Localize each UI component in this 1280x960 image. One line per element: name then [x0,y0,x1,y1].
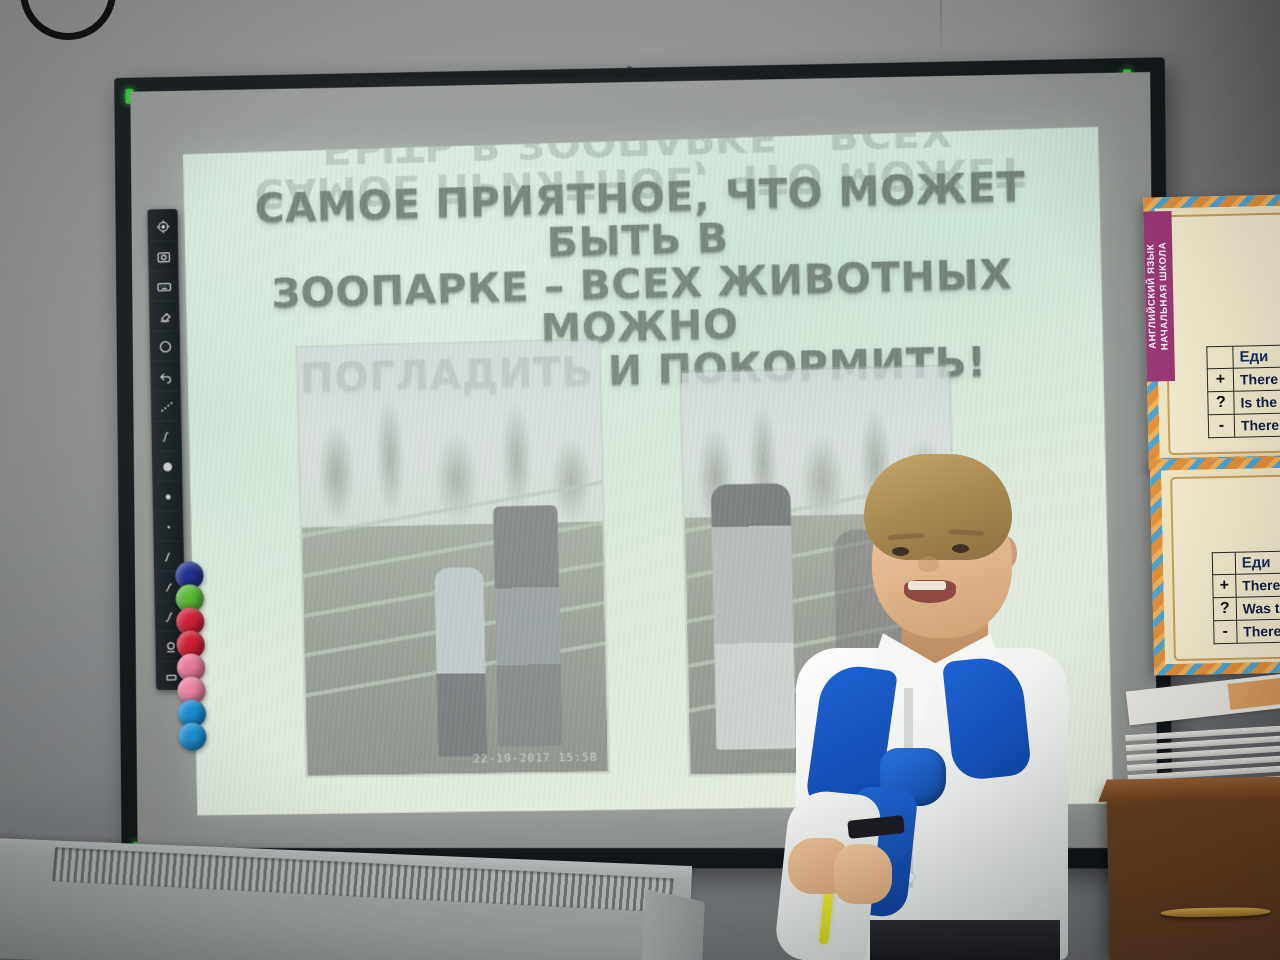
table-row: + There [1213,573,1280,598]
poster-english-grammar-2: Еди + There ? Was th - There [1150,456,1280,675]
row-symbol: - [1214,620,1237,643]
table-header-cell: Еди [1235,551,1280,574]
row-text: There [1233,367,1280,391]
presenter-eye-left [892,547,909,556]
dotted-line-tool[interactable] [153,392,180,422]
row-symbol: ? [1208,391,1234,415]
curve-tool[interactable] [153,422,180,452]
pen-thick-tool[interactable] [154,452,181,482]
photo-figure-child [435,567,487,757]
cabinet-top-surface [1098,776,1280,802]
poster-tab-line-2: НАЧАЛЬНАЯ ШКОЛА [1157,242,1170,351]
pen-thin-tool[interactable] [155,512,182,541]
presenter-teeth [908,581,946,590]
radiator-end-cap [641,889,704,960]
wall-cable [940,0,942,60]
eraser-tool[interactable] [151,302,178,332]
photo-figure-adult [493,505,562,747]
schoolboy-presenter [752,452,1082,960]
keyboard-tool[interactable] [151,272,178,302]
row-symbol [1212,552,1235,574]
grammar-table: Еди + There ? Is the - There [1206,345,1280,439]
presenter-nose [918,556,939,572]
table-row: - There [1214,619,1280,644]
row-text: Was th [1236,596,1280,620]
poster-card: Еди + There ? Was th - There [1170,475,1280,661]
row-symbol: - [1208,414,1234,438]
presenter-mouth [904,580,956,603]
presenter-hand-right [834,844,892,904]
magnet-ball[interactable] [178,723,207,751]
row-text: There [1234,413,1280,437]
row-text: There [1235,573,1280,597]
presenter-trousers [870,920,1060,960]
table-row: Еди [1212,551,1280,575]
grammar-table: Еди + There ? Was th - There [1212,551,1280,645]
table-row: - There [1208,413,1280,438]
poster-english-grammar-1: Еди + There ? Is the - There АНГЛИЙСКИЙ … [1143,194,1280,469]
row-symbol: + [1213,574,1236,597]
photo-timestamp: 22-10-2017 15:58 [473,750,598,765]
table-header-cell: Еди [1233,345,1280,368]
cabinet-drawer-handle[interactable] [1161,907,1271,918]
slide-title-line-2-reflect: ЗООПАРКЕ – ВСЕХ ЖИВОТНЫХ МОЖНО [231,127,954,166]
presenter-hair [864,454,1012,560]
slide-photo-left: 22-10-2017 15:58 [296,338,610,778]
magnetic-markers[interactable] [174,561,207,746]
table-row: Еди [1207,345,1280,369]
poster-subject-tab: АНГЛИЙСКИЙ ЯЗЫК НАЧАЛЬНАЯ ШКОЛА [1143,211,1175,382]
undo-tool[interactable] [152,362,179,392]
pen-medium-tool[interactable] [154,482,181,511]
screenshot-tool[interactable] [150,242,177,272]
row-symbol: ? [1213,597,1236,620]
poster-tab-line-1: АНГЛИЙСКИЙ ЯЗЫК [1145,244,1158,349]
select-tool[interactable] [149,212,176,242]
row-symbol: + [1207,368,1233,392]
row-text: Is the [1234,390,1280,414]
shape-circle-tool[interactable] [152,332,179,362]
table-row: ? Is the [1208,390,1280,415]
row-text: There [1236,619,1280,643]
paper-color-swatch [1228,677,1280,710]
table-row: ? Was th [1213,596,1280,621]
wooden-cabinet[interactable] [1107,788,1280,960]
table-row: + There [1207,367,1280,392]
poster-card: Еди + There ? Is the - There [1164,213,1280,456]
presenter-eye-right [952,544,969,553]
classroom-scene: eno САМОЕ ПРИЯТНОЕ, ЧТО МОЖЕТ БЫТЬ В ЗОО… [0,0,1280,960]
row-symbol [1207,346,1233,369]
